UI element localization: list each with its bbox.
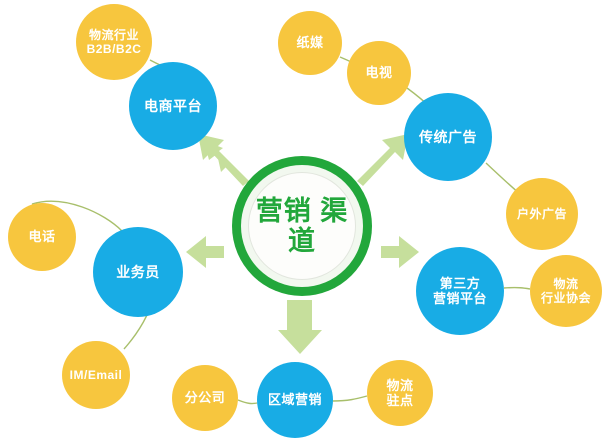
marketing-channel-diagram: 营销 渠道 电商平台 传统广告 业务员 第三方 营销平台 区域营销 物流行业 B… [0, 0, 605, 445]
leaf-node-print-media[interactable]: 纸媒 [278, 11, 342, 75]
arrow-to-third-party [381, 236, 419, 268]
leaf-label-tv: 电视 [365, 65, 392, 80]
hub-node-regional[interactable]: 区域营销 [257, 362, 333, 438]
arrow-to-regional [278, 300, 322, 354]
leaf-node-logistics-b2b[interactable]: 物流行业 B2B/B2C [76, 4, 152, 80]
connector-branch-to-regional [238, 400, 257, 404]
leaf-label-outdoor-ads: 户外广告 [517, 207, 567, 221]
hub-label-third-party-line1: 第三方 [433, 276, 487, 291]
center-label-line1: 营销 [256, 196, 312, 226]
leaf-node-logistics-assoc[interactable]: 物流 行业协会 [530, 255, 602, 327]
leaf-node-logistics-site[interactable]: 物流 驻点 [367, 360, 433, 426]
leaf-label-logistics-assoc-line1: 物流 [541, 277, 591, 291]
leaf-node-branch-office[interactable]: 分公司 [172, 365, 238, 431]
hub-label-third-party-line2: 营销平台 [433, 291, 487, 306]
hub-label-ecommerce: 电商平台 [144, 98, 202, 115]
leaf-label-logistics-b2b-line2: B2B/B2C [87, 42, 142, 56]
center-label: 营销 渠道 [249, 196, 355, 256]
leaf-node-tv[interactable]: 电视 [347, 41, 411, 105]
hub-node-traditional-ads[interactable]: 传统广告 [404, 93, 492, 181]
leaf-node-im-email[interactable]: IM/Email [62, 341, 130, 409]
leaf-label-print-media: 纸媒 [296, 35, 323, 50]
hub-node-ecommerce[interactable]: 电商平台 [129, 62, 217, 150]
hub-label-regional: 区域营销 [268, 392, 322, 407]
leaf-label-im-email: IM/Email [70, 368, 123, 382]
leaf-label-telephone: 电话 [28, 229, 55, 244]
leaf-label-logistics-assoc-line2: 行业协会 [541, 291, 591, 305]
center-core: 营销 渠道 [248, 172, 356, 280]
leaf-label-logistics-site-line1: 物流 [386, 378, 413, 393]
leaf-node-outdoor-ads[interactable]: 户外广告 [506, 178, 578, 250]
arrow-to-salesperson [186, 236, 224, 268]
hub-node-third-party[interactable]: 第三方 营销平台 [416, 247, 504, 335]
center-node[interactable]: 营销 渠道 [232, 156, 372, 296]
hub-node-salesperson[interactable]: 业务员 [93, 227, 183, 317]
leaf-label-logistics-b2b-line1: 物流行业 [87, 28, 142, 42]
connector-third-party-to-logistics-assoc [504, 288, 530, 289]
hub-label-traditional-ads: 传统广告 [419, 129, 477, 146]
hub-label-salesperson: 业务员 [116, 264, 160, 281]
leaf-label-branch-office: 分公司 [185, 390, 226, 405]
connector-regional-to-logistics-site [333, 396, 367, 401]
leaf-node-telephone[interactable]: 电话 [8, 203, 76, 271]
leaf-label-logistics-site-line2: 驻点 [386, 393, 413, 408]
